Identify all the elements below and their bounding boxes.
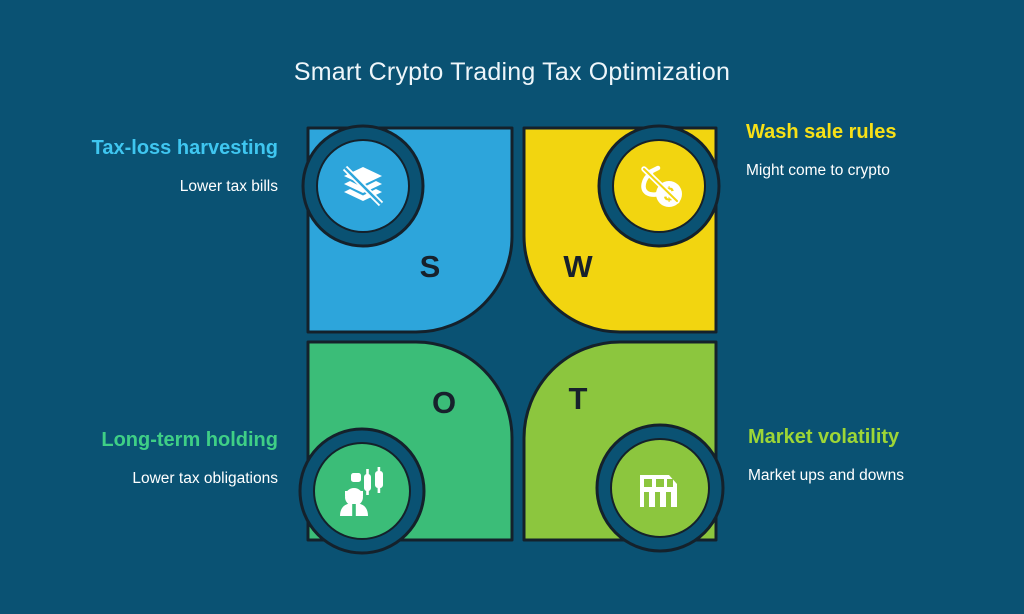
no-layers-icon [335, 158, 391, 214]
label-heading-weaknesses: Wash sale rules [746, 120, 936, 146]
diagram-canvas: Smart Crypto Trading Tax Optimization [0, 0, 1024, 614]
bank-building-icon [631, 459, 689, 517]
label-subtext-opportunities: Lower tax obligations [88, 468, 278, 490]
label-strengths: Tax-loss harvesting Lower tax bills [88, 136, 278, 198]
quadrant-letter-w: W [558, 249, 598, 285]
label-threats: Market volatility Market ups and downs [748, 425, 938, 487]
label-heading-threats: Market volatility [748, 425, 938, 451]
no-money-bag-icon: $ [630, 157, 688, 215]
label-subtext-threats: Market ups and downs [748, 465, 938, 487]
quadrant-letter-o: O [424, 385, 464, 421]
label-subtext-weaknesses: Might come to crypto [746, 160, 936, 182]
quadrant-letter-s: S [410, 249, 450, 285]
trader-candlestick-icon [332, 461, 392, 521]
icon-badge-opportunities[interactable] [313, 442, 411, 540]
swot-petal-group [0, 0, 1024, 614]
label-opportunities: Long-term holding Lower tax obligations [88, 428, 278, 490]
quadrant-letter-t: T [558, 381, 598, 417]
label-subtext-strengths: Lower tax bills [88, 176, 278, 198]
icon-badge-weaknesses[interactable]: $ [612, 139, 706, 233]
icon-badge-strengths[interactable] [316, 139, 410, 233]
label-heading-strengths: Tax-loss harvesting [88, 136, 278, 162]
icon-badge-threats[interactable] [610, 438, 710, 538]
label-weaknesses: Wash sale rules Might come to crypto [746, 120, 936, 182]
label-heading-opportunities: Long-term holding [88, 428, 278, 454]
